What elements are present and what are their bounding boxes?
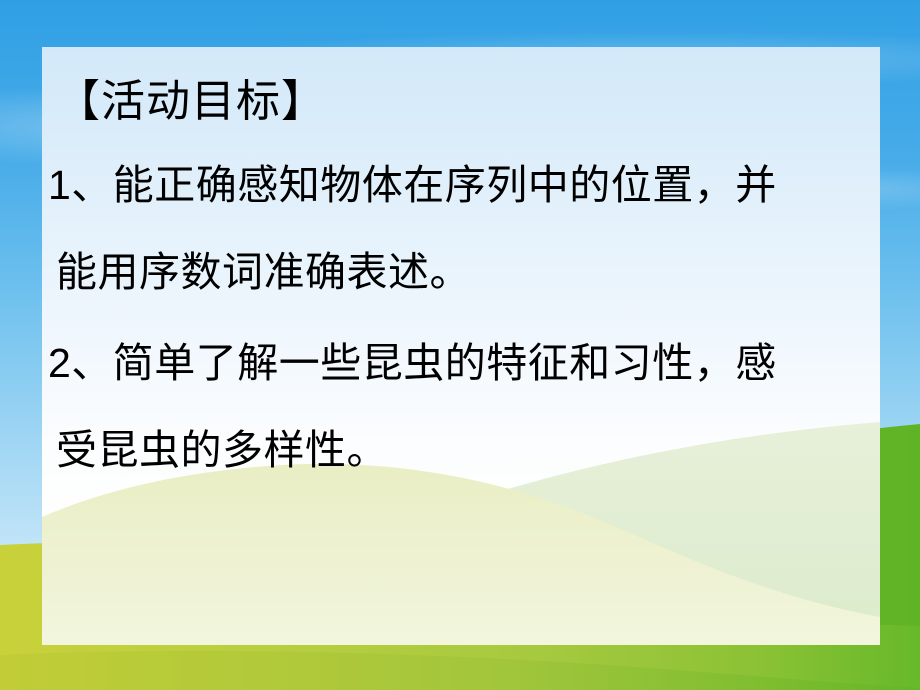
objective-1-line-1: 1、能正确感知物体在序列中的位置，并 bbox=[48, 165, 880, 206]
slide: 【活动目标】 1、能正确感知物体在序列中的位置，并 能用序数词准确表述。 2、简… bbox=[0, 0, 920, 690]
objective-2-line-2: 受昆虫的多样性。 bbox=[56, 430, 880, 471]
page-title: 【活动目标】 bbox=[56, 79, 880, 125]
panel-text-block: 【活动目标】 1、能正确感知物体在序列中的位置，并 能用序数词准确表述。 2、简… bbox=[42, 47, 880, 471]
objective-1-line-2: 能用序数词准确表述。 bbox=[56, 252, 880, 293]
objective-2-line-1: 2、简单了解一些昆虫的特征和习性，感 bbox=[48, 343, 880, 384]
content-panel: 【活动目标】 1、能正确感知物体在序列中的位置，并 能用序数词准确表述。 2、简… bbox=[42, 47, 880, 645]
